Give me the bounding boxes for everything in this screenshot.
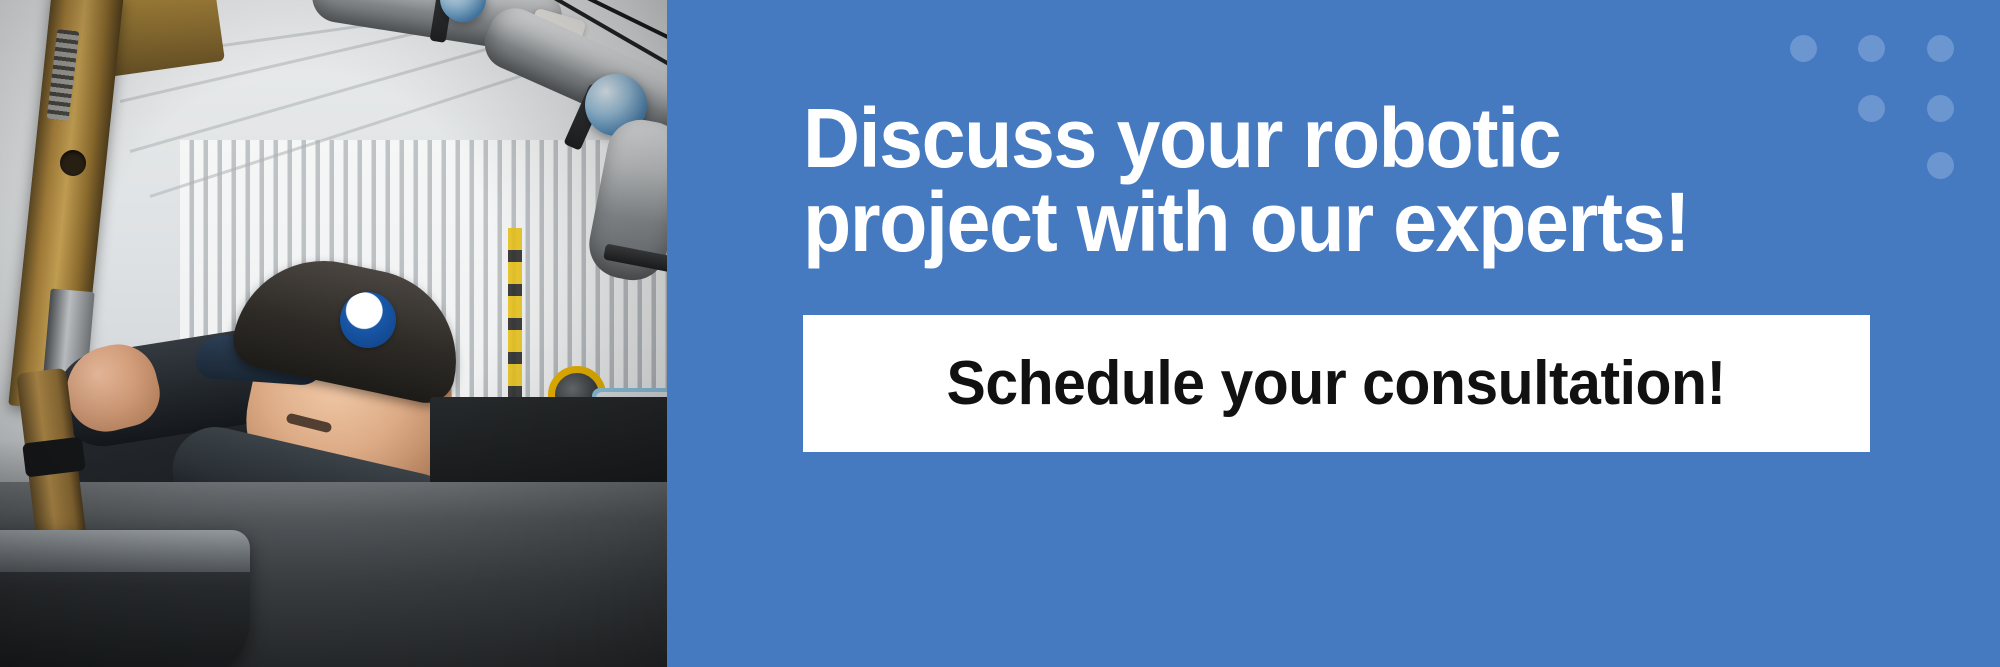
cta-headline-line-2: project with our experts! [803, 180, 1802, 264]
cta-banner: Discuss your robotic project with our ex… [0, 0, 2000, 667]
schedule-consultation-button[interactable]: Schedule your consultation! [803, 315, 1870, 452]
mallet-grip [22, 436, 86, 477]
mallet [0, 380, 300, 667]
dot-5 [1927, 95, 1954, 122]
hero-photo [0, 0, 667, 667]
yellow-level-tool [508, 228, 522, 413]
cta-content: Discuss your robotic project with our ex… [803, 0, 1866, 452]
cta-headline-line-1: Discuss your robotic [803, 96, 1802, 180]
dot-6 [1927, 152, 1954, 179]
mallet-face [0, 530, 250, 572]
cta-button-label: Schedule your consultation! [947, 353, 1726, 415]
dot-3 [1927, 35, 1954, 62]
cta-headline: Discuss your robotic project with our ex… [803, 96, 1802, 264]
cta-panel: Discuss your robotic project with our ex… [667, 0, 2000, 667]
